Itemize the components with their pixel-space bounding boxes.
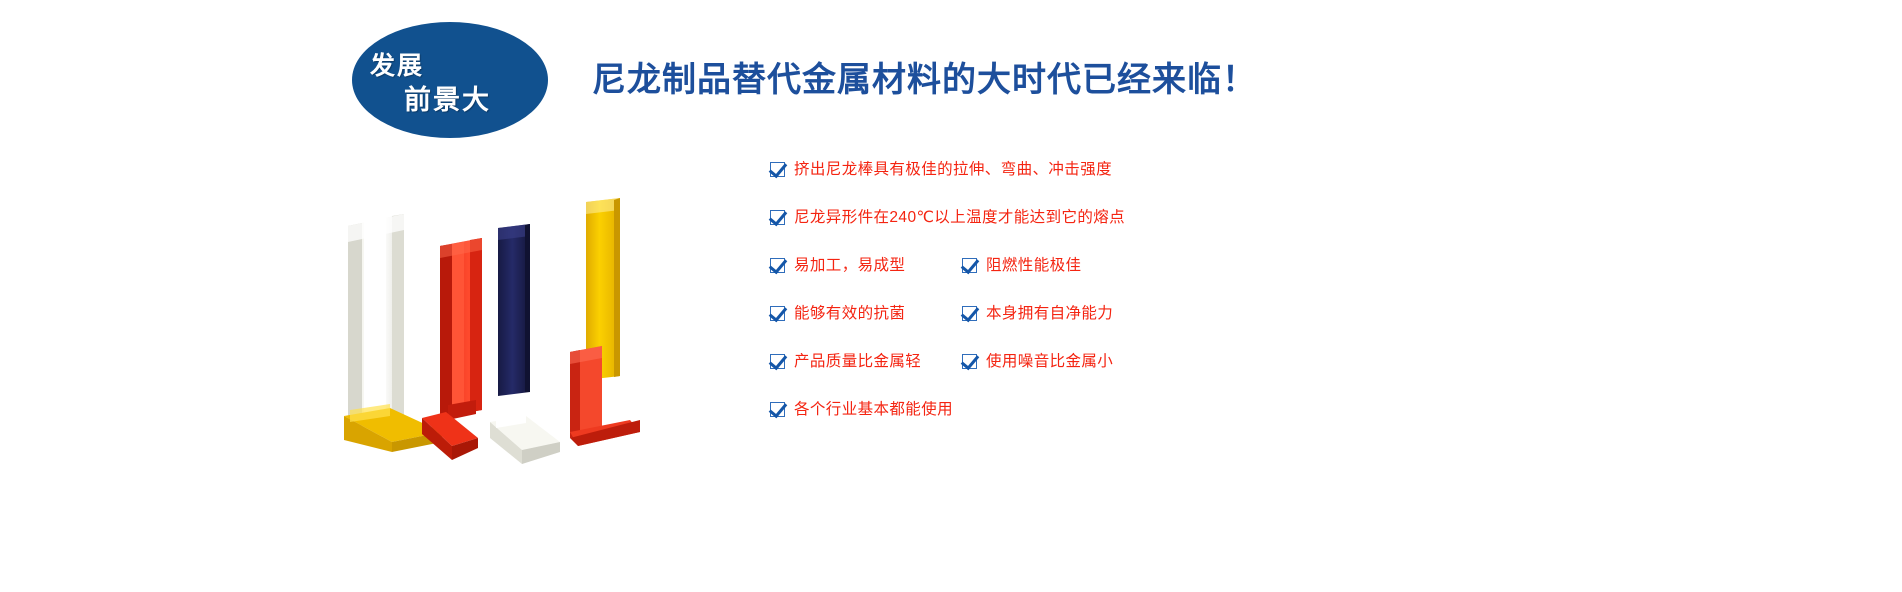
checklist-item-label: 阻燃性能极佳 (986, 258, 1081, 274)
checklist-item: 使用噪音比金属小 (962, 354, 1113, 370)
white-u-channel (348, 214, 404, 438)
checkbox-checked-icon (770, 354, 785, 369)
white-l-angle (490, 413, 560, 464)
checklist-item-label: 尼龙异形件在240℃以上温度才能达到它的熔点 (794, 210, 1125, 226)
checklist-item: 挤出尼龙棒具有极佳的拉伸、弯曲、冲击强度 (770, 162, 1112, 178)
speech-bubble-body: 发展 前景大 (352, 22, 548, 138)
navy-flat-bar (498, 224, 530, 396)
checkbox-checked-icon (770, 162, 785, 177)
checklist-item: 能够有效的抗菌 (770, 306, 905, 322)
checklist-item: 尼龙异形件在240℃以上温度才能达到它的熔点 (770, 210, 1125, 226)
checklist-item-label: 使用噪音比金属小 (986, 354, 1113, 370)
page-title: 尼龙制品替代金属材料的大时代已经来临！ (592, 52, 1257, 101)
red-u-channel (440, 238, 482, 420)
checklist-item: 阻燃性能极佳 (962, 258, 1081, 274)
checkbox-checked-icon (770, 306, 785, 321)
checklist-item: 易加工，易成型 (770, 258, 905, 274)
checkbox-checked-icon (962, 306, 977, 321)
checklist-item-label: 能够有效的抗菌 (794, 306, 905, 322)
checkbox-checked-icon (962, 258, 977, 273)
checklist-item-label: 本身拥有自净能力 (986, 306, 1113, 322)
checklist-item: 产品质量比金属轻 (770, 354, 921, 370)
checkbox-checked-icon (770, 210, 785, 225)
checklist-item-label: 产品质量比金属轻 (794, 354, 921, 370)
promo-banner: 发展 前景大 尼龙制品替代金属材料的大时代已经来临！ (0, 0, 1902, 592)
checkbox-checked-icon (962, 354, 977, 369)
nylon-profiles-illustration (330, 180, 730, 470)
checklist-item: 本身拥有自净能力 (962, 306, 1113, 322)
speech-bubble: 发展 前景大 (352, 22, 548, 138)
checklist-item: 各个行业基本都能使用 (770, 402, 953, 418)
feature-checklist: 挤出尼龙棒具有极佳的拉伸、弯曲、冲击强度 尼龙异形件在240℃以上温度才能达到它… (770, 156, 1190, 446)
red-l-angle-left (422, 412, 478, 460)
checklist-item-label: 各个行业基本都能使用 (794, 402, 953, 418)
checklist-item-label: 挤出尼龙棒具有极佳的拉伸、弯曲、冲击强度 (794, 162, 1112, 178)
speech-bubble-line-1: 发展 (370, 46, 424, 82)
product-image (330, 180, 730, 470)
speech-bubble-line-2: 前景大 (404, 78, 491, 117)
checkbox-checked-icon (770, 402, 785, 417)
checkbox-checked-icon (770, 258, 785, 273)
checklist-item-label: 易加工，易成型 (794, 258, 905, 274)
